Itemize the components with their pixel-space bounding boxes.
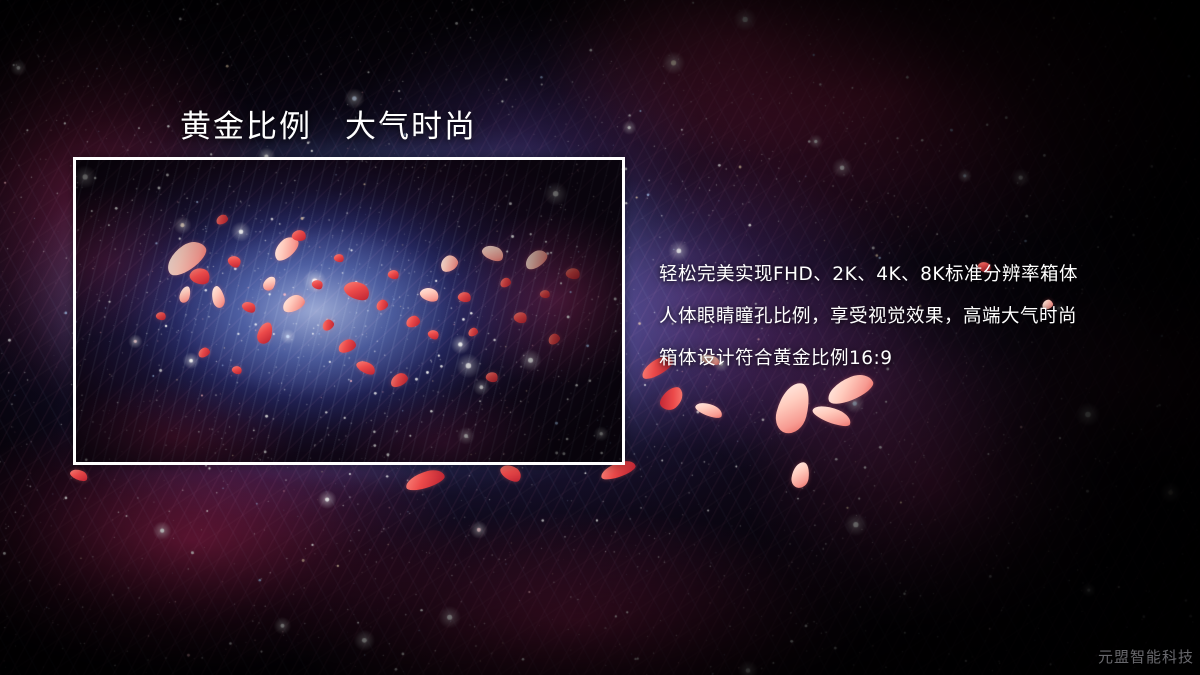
photo-vignette <box>76 160 622 462</box>
photo-frame-inner <box>76 160 622 462</box>
flower-petal-icon <box>790 461 810 489</box>
body-line-2: 人体眼睛瞳孔比例，享受视觉效果，高端大气时尚 <box>659 296 1159 338</box>
photo-frame[interactable] <box>73 157 625 465</box>
flower-petal-icon <box>69 467 90 483</box>
slide-body-copy: 轻松完美实现FHD、2K、4K、8K标准分辨率箱体 人体眼睛瞳孔比例，享受视觉效… <box>659 254 1159 380</box>
flower-petal-icon <box>656 384 687 415</box>
body-line-1: 轻松完美实现FHD、2K、4K、8K标准分辨率箱体 <box>659 254 1159 296</box>
flower-petal-icon <box>694 399 724 421</box>
flower-petal-icon <box>772 379 814 437</box>
slide-title: 黄金比例 大气时尚 <box>180 101 477 146</box>
company-watermark: 元盟智能科技 <box>1098 646 1194 667</box>
presentation-slide: 黄金比例 大气时尚 轻松完美实现FHD、2K、4K、8K标准分辨率箱体 人体眼睛… <box>0 0 1200 675</box>
flower-petal-icon <box>811 401 854 430</box>
flower-petal-icon <box>404 467 447 493</box>
body-line-3: 箱体设计符合黄金比例16:9 <box>659 338 1159 380</box>
